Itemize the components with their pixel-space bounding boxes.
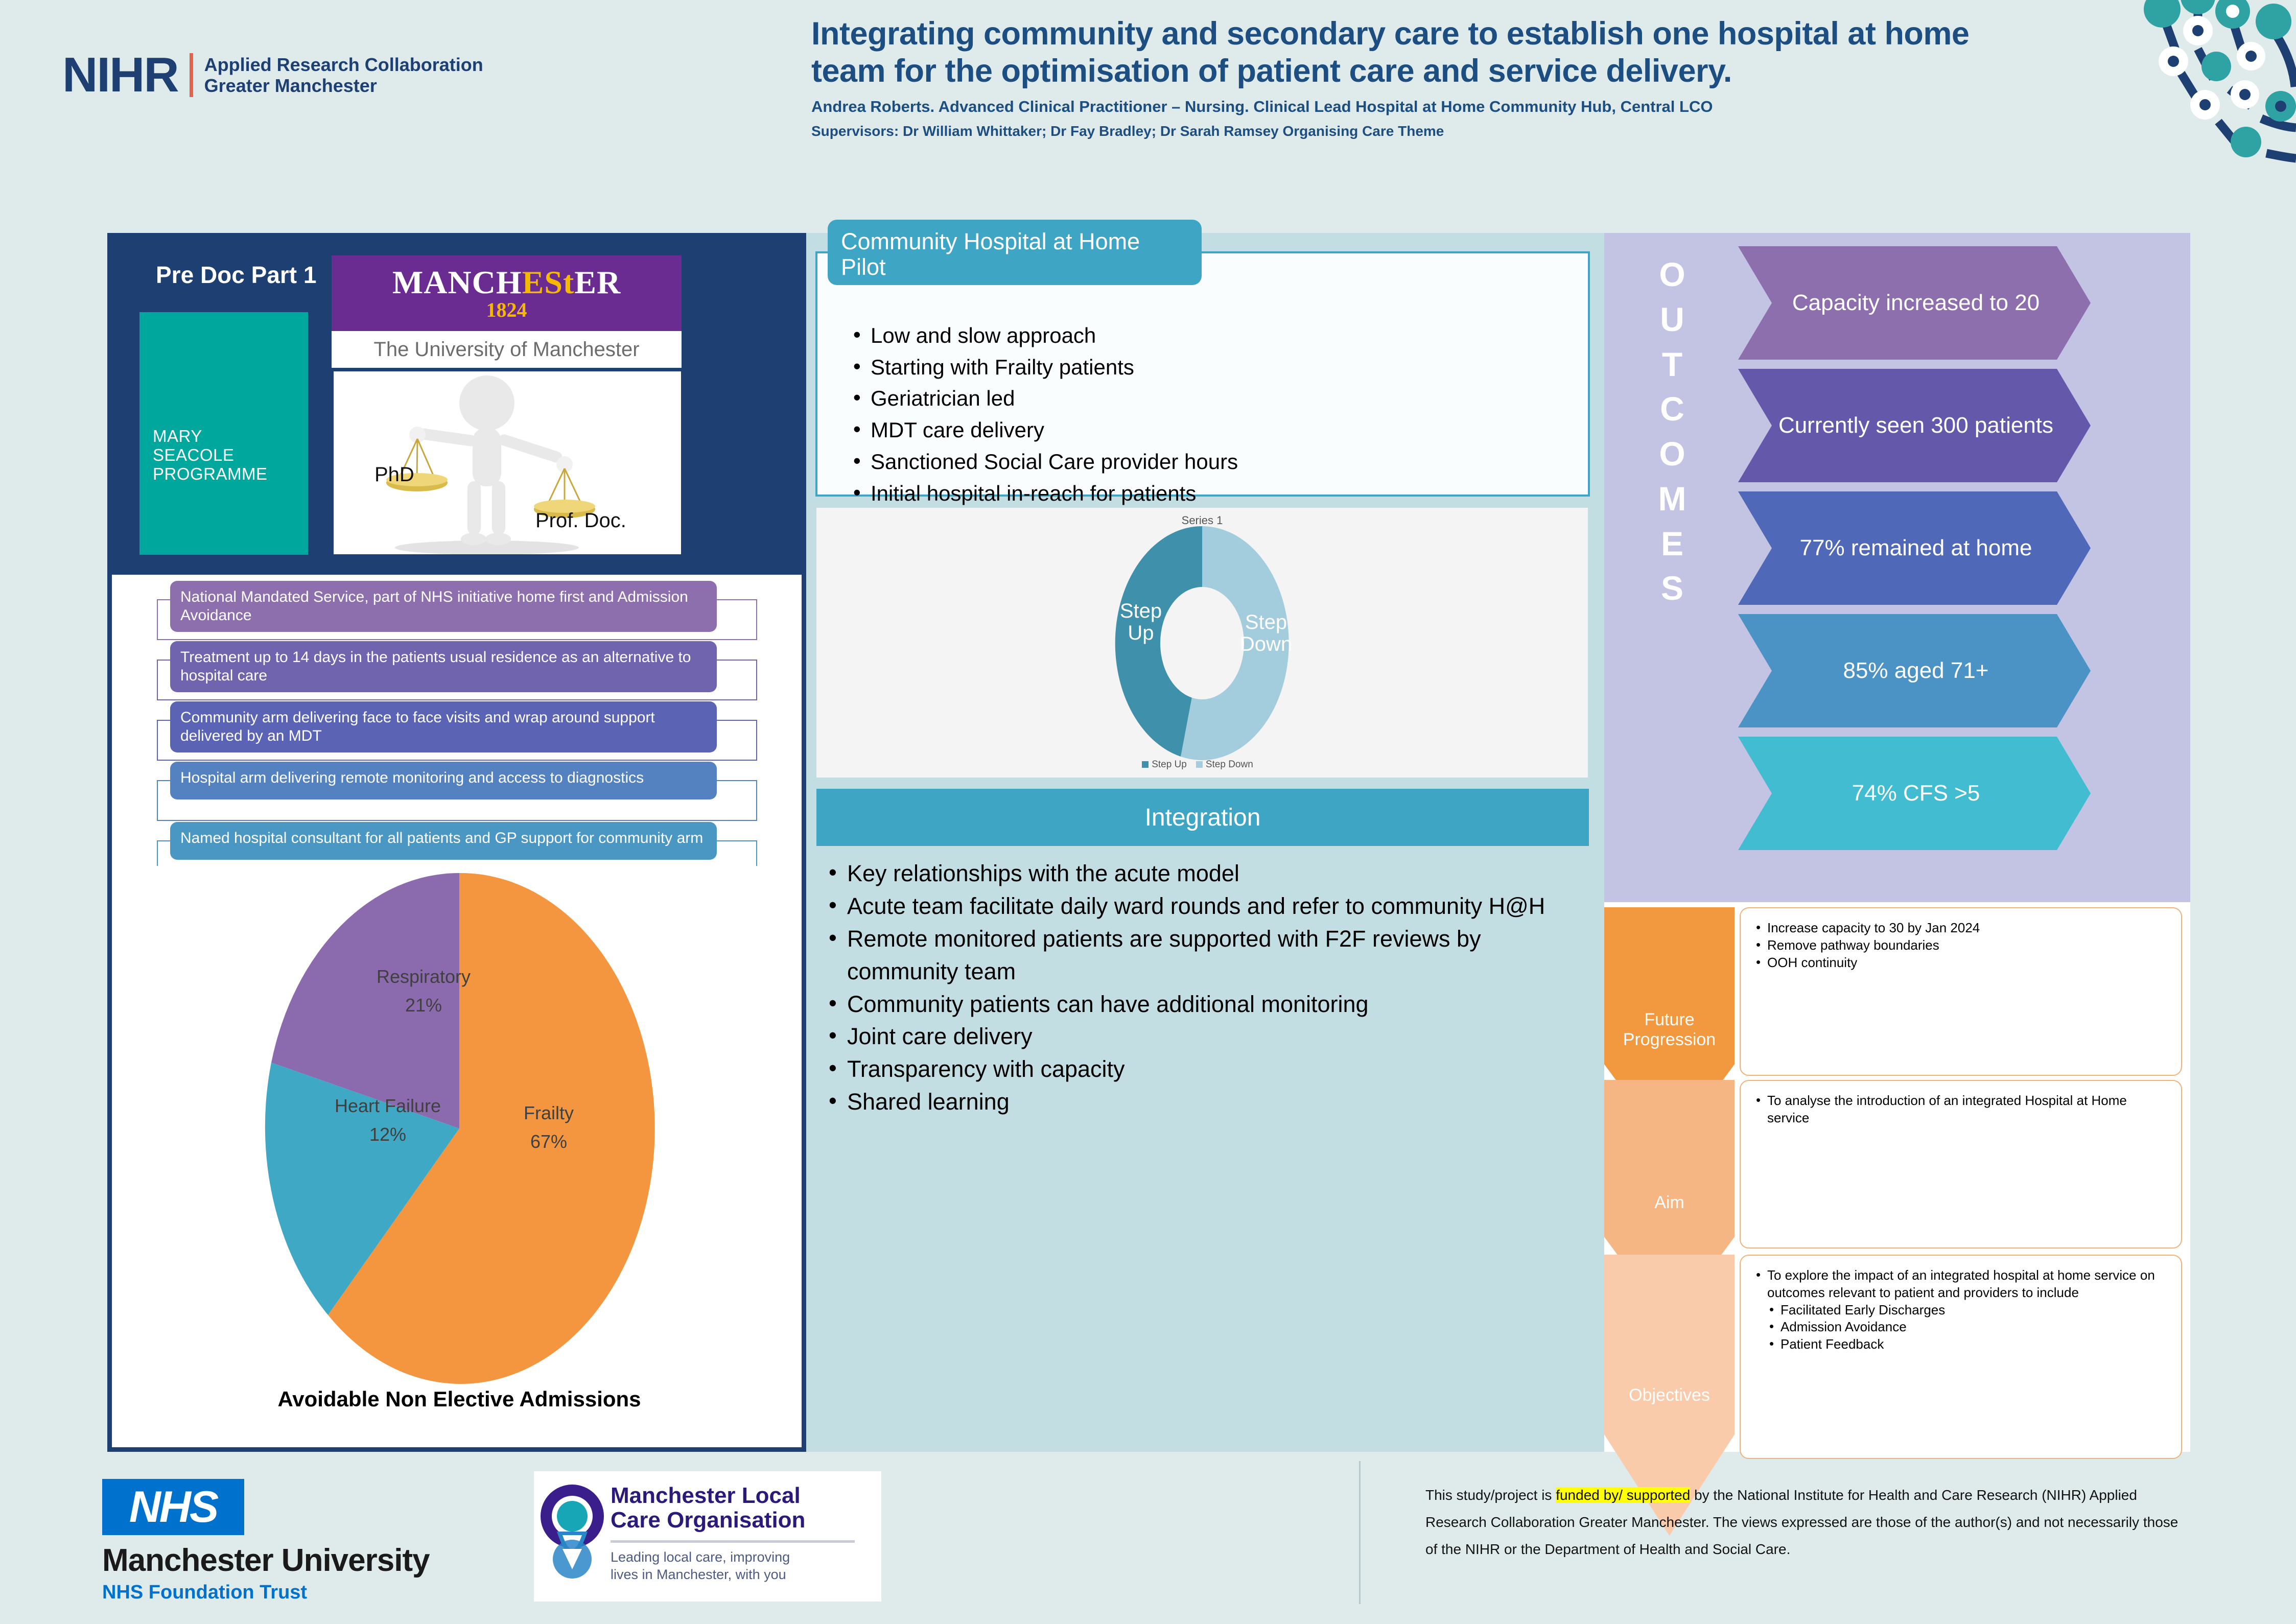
- outcomes-letter: T: [1644, 342, 1700, 387]
- stage-bullet-list: To explore the impact of an integrated h…: [1754, 1267, 2168, 1353]
- integration-bullet-item: Remote monitored patients are supported …: [829, 923, 1585, 988]
- title-block: Integrating community and secondary care…: [811, 15, 2048, 139]
- middle-column: Low and slow approachStarting with Frail…: [806, 233, 1604, 1452]
- integration-bullet-item: Community patients can have additional m…: [829, 988, 1585, 1021]
- nhs-foundation-trust-label: NHS Foundation Trust: [102, 1582, 430, 1604]
- nihr-wordmark: NIHR: [62, 47, 178, 103]
- nihr-subtitle-line1: Applied Research Collaboration: [204, 54, 483, 75]
- uom-year: 1824: [486, 300, 527, 320]
- pilot-card: Low and slow approachStarting with Frail…: [815, 251, 1590, 497]
- outcome-chevron: 85% aged 71+: [1738, 614, 2091, 727]
- nhs-trust-name: Manchester University: [102, 1542, 430, 1579]
- left-column: Pre Doc Part 1 MARY SEACOLE PROGRAMME MA…: [107, 233, 806, 1452]
- mlco-line1: Manchester Local: [611, 1484, 855, 1508]
- stage-bullet-list: Increase capacity to 30 by Jan 2024Remov…: [1754, 920, 2168, 971]
- outcomes-letter: E: [1644, 522, 1700, 567]
- integration-bullet-item: Joint care delivery: [829, 1020, 1585, 1053]
- stage-sub-bullet-item: Patient Feedback: [1767, 1336, 2168, 1353]
- stage-sub-bullet-item: Facilitated Early Discharges: [1767, 1302, 2168, 1319]
- mlco-tagline1: Leading local care, improving: [611, 1549, 855, 1566]
- uom-crest: MANCHEStER 1824: [332, 255, 682, 331]
- outcomes-vertical-label: OUTCOMES: [1644, 252, 1700, 611]
- outcomes-letter: M: [1644, 477, 1700, 522]
- nhs-mark: NHS: [102, 1479, 244, 1535]
- integration-bullet-item: Shared learning: [829, 1086, 1585, 1118]
- stage-bullet-item: To analyse the introduction of an integr…: [1754, 1092, 2168, 1127]
- donut-chart-title: Series 1: [816, 514, 1588, 527]
- integration-bullet-item: Key relationships with the acute model: [829, 857, 1585, 890]
- scales-label-profdoc: Prof. Doc.: [535, 509, 626, 532]
- predoc-title: Pre Doc Part 1: [156, 261, 316, 289]
- stages-panel: Future ProgressionIncrease capacity to 3…: [1604, 902, 2190, 1452]
- mary-seacole-text: MARY SEACOLE PROGRAMME: [153, 427, 268, 484]
- process-step-chip: Treatment up to 14 days in the patients …: [170, 641, 717, 692]
- donut-label-stepdown-line2: Down: [1240, 633, 1292, 655]
- nhs-manchester-university-logo: NHS Manchester University NHS Foundation…: [102, 1479, 430, 1604]
- stage-bullet-list: To analyse the introduction of an integr…: [1754, 1092, 2168, 1127]
- donut-label-stepup-line2: Up: [1128, 622, 1154, 644]
- pie-label-heartfailure-name: Heart Failure: [335, 1095, 441, 1116]
- outcome-chevron: Currently seen 300 patients: [1738, 369, 2091, 482]
- outcome-chevron: Capacity increased to 20: [1738, 246, 2091, 360]
- nihr-subtitle-line2: Greater Manchester: [204, 75, 483, 96]
- stage-bullet-item: To explore the impact of an integrated h…: [1754, 1267, 2168, 1302]
- process-step-row: National Mandated Service, part of NHS i…: [157, 581, 760, 641]
- predoc-panel: Pre Doc Part 1 MARY SEACOLE PROGRAMME MA…: [112, 238, 802, 575]
- donut-label-stepdown-line1: Step: [1245, 611, 1287, 633]
- process-step-row: Hospital arm delivering remote monitorin…: [157, 762, 760, 822]
- supervisors-line: Supervisors: Dr William Whittaker; Dr Fa…: [811, 123, 2048, 139]
- step-up-step-down-donut-chart: Step Up Step Down: [816, 508, 1588, 778]
- disclaimer-text-start: This study/project is: [1425, 1487, 1556, 1503]
- outcome-chevron: 74% CFS >5: [1738, 737, 2091, 850]
- integration-bullet-item: Acute team facilitate daily ward rounds …: [829, 890, 1585, 923]
- outcomes-letter: C: [1644, 387, 1700, 432]
- right-column: OUTCOMES Capacity increased to 20Current…: [1604, 233, 2190, 1452]
- nihr-subtitle: Applied Research Collaboration Greater M…: [204, 54, 483, 97]
- network-decoration-icon: [2133, 0, 2296, 169]
- mlco-logo: Manchester Local Care Organisation Leadi…: [534, 1471, 881, 1602]
- scales-label-phd: PhD: [374, 463, 414, 486]
- pie-label-frailty-value: 67%: [530, 1131, 567, 1152]
- stage-bullet-item: OOH continuity: [1754, 954, 2168, 972]
- stage-sub-bullet-item: Admission Avoidance: [1767, 1319, 2168, 1336]
- process-step-chip: Community arm delivering face to face vi…: [170, 701, 717, 752]
- outcomes-letter: O: [1644, 432, 1700, 477]
- stage-content-box: To explore the impact of an integrated h…: [1740, 1255, 2182, 1459]
- donut-chart-legend: Step UpStep Down: [816, 759, 1588, 770]
- pilot-bullet-item: Starting with Frailty patients: [853, 351, 1568, 383]
- disclaimer-highlight: funded by/ supported: [1556, 1487, 1690, 1503]
- integration-bullet-list: Key relationships with the acute modelAc…: [829, 857, 1585, 1118]
- pilot-bullet-item: Geriatrician led: [853, 383, 1568, 414]
- nihr-divider-bar: [190, 53, 193, 97]
- donut-chart-panel: Series 1 Step Up Step Down Step UpStep D…: [816, 508, 1588, 778]
- legend-swatch: [1142, 761, 1149, 768]
- donut-legend-entry: Step Down: [1196, 759, 1253, 770]
- poster-frame: Pre Doc Part 1 MARY SEACOLE PROGRAMME MA…: [107, 233, 2199, 1452]
- mlco-divider: [611, 1540, 855, 1543]
- uom-subtitle: The University of Manchester: [332, 331, 682, 368]
- pie-label-heartfailure-value: 12%: [369, 1124, 406, 1145]
- pie-label-frailty-name: Frailty: [524, 1102, 574, 1123]
- mlco-line2: Care Organisation: [611, 1508, 855, 1533]
- funding-disclaimer: This study/project is funded by/ support…: [1425, 1481, 2192, 1563]
- process-step-chip: National Mandated Service, part of NHS i…: [170, 581, 717, 632]
- pilot-bullet-list: Low and slow approachStarting with Frail…: [853, 320, 1568, 509]
- outcomes-panel: OUTCOMES Capacity increased to 20Current…: [1604, 233, 2190, 902]
- stage-bullet-item: Increase capacity to 30 by Jan 2024: [1754, 920, 2168, 937]
- seacole-line2: SEACOLE: [153, 446, 268, 465]
- university-of-manchester-logo: MANCHEStER 1824 The University of Manche…: [332, 255, 682, 368]
- seacole-line3: PROGRAMME: [153, 465, 268, 484]
- phd-vs-profdoc-scales-image: PhD Prof. Doc.: [334, 371, 681, 554]
- integration-bullet-item: Transparency with capacity: [829, 1053, 1585, 1086]
- stage-content-box: To analyse the introduction of an integr…: [1740, 1080, 2182, 1249]
- donut-legend-entry: Step Up: [1142, 759, 1187, 770]
- nihr-logo: NIHR Applied Research Collaboration Grea…: [62, 47, 483, 103]
- pie-chart-panel: Frailty 67% Heart Failure 12% Respirator…: [127, 866, 791, 1438]
- process-step-row: Treatment up to 14 days in the patients …: [157, 641, 760, 701]
- pie-label-respiratory-name: Respiratory: [377, 966, 471, 987]
- outcomes-letter: U: [1644, 297, 1700, 342]
- poster-root: NIHR Applied Research Collaboration Grea…: [0, 0, 2296, 1624]
- stage-sub-bullet-list: Facilitated Early DischargesAdmission Av…: [1767, 1302, 2168, 1353]
- pilot-bullet-item: Sanctioned Social Care provider hours: [853, 446, 1568, 478]
- pilot-bullet-item: MDT care delivery: [853, 414, 1568, 446]
- integration-header: Integration: [816, 789, 1589, 846]
- mlco-tagline2: lives in Manchester, with you: [611, 1566, 855, 1584]
- stage-content-box: Increase capacity to 30 by Jan 2024Remov…: [1740, 907, 2182, 1076]
- mlco-text-block: Manchester Local Care Organisation Leadi…: [611, 1471, 855, 1602]
- page-title: Integrating community and secondary care…: [811, 15, 2048, 90]
- legend-swatch: [1196, 761, 1203, 768]
- mary-seacole-logo: MARY SEACOLE PROGRAMME: [139, 312, 308, 555]
- pilot-bullet-item: Low and slow approach: [853, 320, 1568, 351]
- pilot-header: Community Hospital at Home Pilot: [828, 220, 1202, 285]
- mlco-mark-icon: [534, 1471, 611, 1602]
- seacole-line1: MARY: [153, 427, 268, 446]
- process-step-chip: Hospital arm delivering remote monitorin…: [170, 762, 717, 799]
- donut-label-stepup-line1: Step: [1120, 600, 1162, 622]
- avoidable-admissions-pie-chart: Frailty 67% Heart Failure 12% Respirator…: [191, 868, 728, 1389]
- footer-divider: [1359, 1461, 1361, 1604]
- pie-label-respiratory-value: 21%: [405, 995, 442, 1016]
- stage-bullet-item: Remove pathway boundaries: [1754, 937, 2168, 954]
- outcomes-letter: S: [1644, 566, 1700, 611]
- pie-chart-caption: Avoidable Non Elective Admissions: [127, 1387, 791, 1411]
- outcome-chevron: 77% remained at home: [1738, 491, 2091, 605]
- outcomes-letter: O: [1644, 252, 1700, 297]
- process-step-row: Community arm delivering face to face vi…: [157, 701, 760, 762]
- uom-wordmark: MANCHEStER: [392, 266, 621, 299]
- process-step-chip: Named hospital consultant for all patien…: [170, 822, 717, 860]
- author-line: Andrea Roberts. Advanced Clinical Practi…: [811, 97, 2048, 117]
- pilot-bullet-item: Initial hospital in-reach for patients: [853, 478, 1568, 509]
